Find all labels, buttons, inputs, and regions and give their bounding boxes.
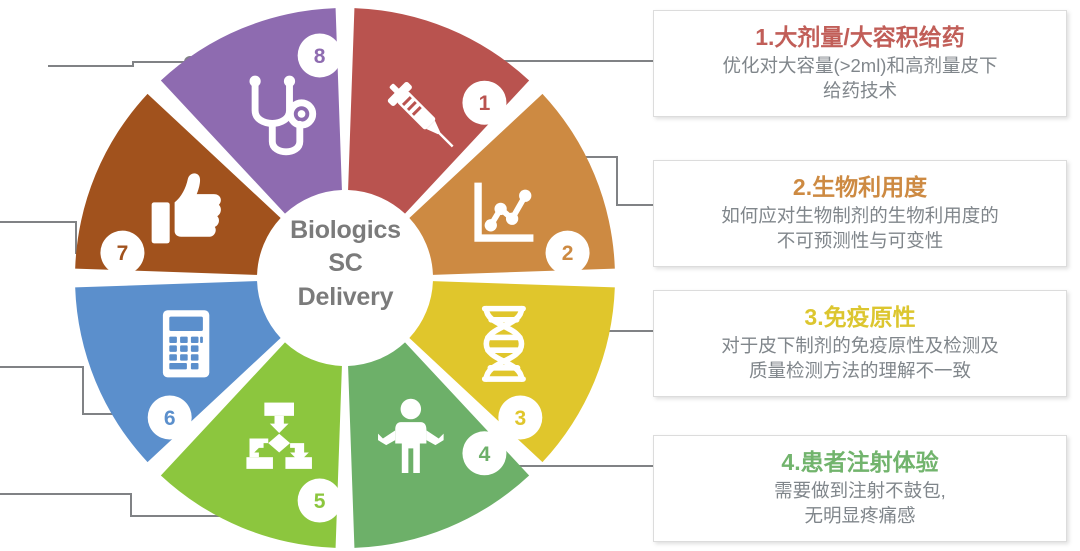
segment-badge-label-8: 8 bbox=[314, 45, 326, 68]
segment-badge-label-5: 5 bbox=[314, 490, 326, 513]
segment-badge-4: 4 bbox=[462, 431, 506, 475]
segment-badge-label-3: 3 bbox=[514, 407, 526, 430]
segment-badge-6: 6 bbox=[148, 395, 192, 439]
connector-line-8 bbox=[48, 62, 190, 66]
segment-badge-label-1: 1 bbox=[479, 92, 491, 115]
segment-badge-label-7: 7 bbox=[117, 242, 129, 265]
segment-badge-8: 8 bbox=[298, 33, 342, 77]
callout-body-4: 需要做到注射不鼓包, 无明显疼痛感 bbox=[774, 479, 946, 529]
callout-title-4: 4.患者注射体验 bbox=[781, 448, 938, 477]
callout-body-1-line1: 优化对大容量(>2ml)和高剂量皮下 bbox=[723, 54, 998, 79]
callout-body-3-line2: 质量检测方法的理解不一致 bbox=[721, 359, 999, 384]
segment-badge-2: 2 bbox=[546, 231, 590, 275]
segment-badge-label-6: 6 bbox=[164, 407, 176, 430]
segment-badge-5: 5 bbox=[298, 479, 342, 523]
callout-body-4-line1: 需要做到注射不鼓包, bbox=[774, 479, 946, 504]
callout-body-3-line1: 对于皮下制剂的免疫原性及检测及 bbox=[721, 334, 999, 359]
infographic-root: 12345678 Biologics SC Delivery 1.大剂量/大容积… bbox=[0, 0, 1080, 551]
callout-title-2: 2.生物利用度 bbox=[793, 173, 927, 202]
callout-card-2[interactable]: 2.生物利用度 如何应对生物制剂的生物利用度的 不可预测性与可变性 bbox=[653, 160, 1067, 267]
callout-card-4[interactable]: 4.患者注射体验 需要做到注射不鼓包, 无明显疼痛感 bbox=[653, 435, 1067, 542]
segment-badge-7: 7 bbox=[100, 231, 144, 275]
segment-badge-label-2: 2 bbox=[562, 242, 574, 265]
callout-title-3: 3.免疫原性 bbox=[804, 303, 915, 332]
callout-body-2-line1: 如何应对生物制剂的生物利用度的 bbox=[721, 204, 999, 229]
calculator-icon bbox=[163, 310, 209, 377]
callout-card-1[interactable]: 1.大剂量/大容积给药 优化对大容量(>2ml)和高剂量皮下 给药技术 bbox=[653, 10, 1067, 117]
callout-title-1: 1.大剂量/大容积给药 bbox=[755, 23, 965, 52]
segment-badge-3: 3 bbox=[498, 395, 542, 439]
segment-badges: 12345678 bbox=[100, 33, 589, 522]
callout-body-2-line2: 不可预测性与可变性 bbox=[721, 229, 999, 254]
callout-card-3[interactable]: 3.免疫原性 对于皮下制剂的免疫原性及检测及 质量检测方法的理解不一致 bbox=[653, 290, 1067, 397]
callout-body-1-line2: 给药技术 bbox=[723, 79, 998, 104]
callout-body-1: 优化对大容量(>2ml)和高剂量皮下 给药技术 bbox=[723, 54, 998, 104]
callout-body-4-line2: 无明显疼痛感 bbox=[774, 504, 946, 529]
callout-body-2: 如何应对生物制剂的生物利用度的 不可预测性与可变性 bbox=[721, 204, 999, 254]
segment-badge-1: 1 bbox=[462, 81, 506, 125]
segment-badge-label-4: 4 bbox=[479, 443, 491, 466]
callout-body-3: 对于皮下制剂的免疫原性及检测及 质量检测方法的理解不一致 bbox=[721, 334, 999, 384]
